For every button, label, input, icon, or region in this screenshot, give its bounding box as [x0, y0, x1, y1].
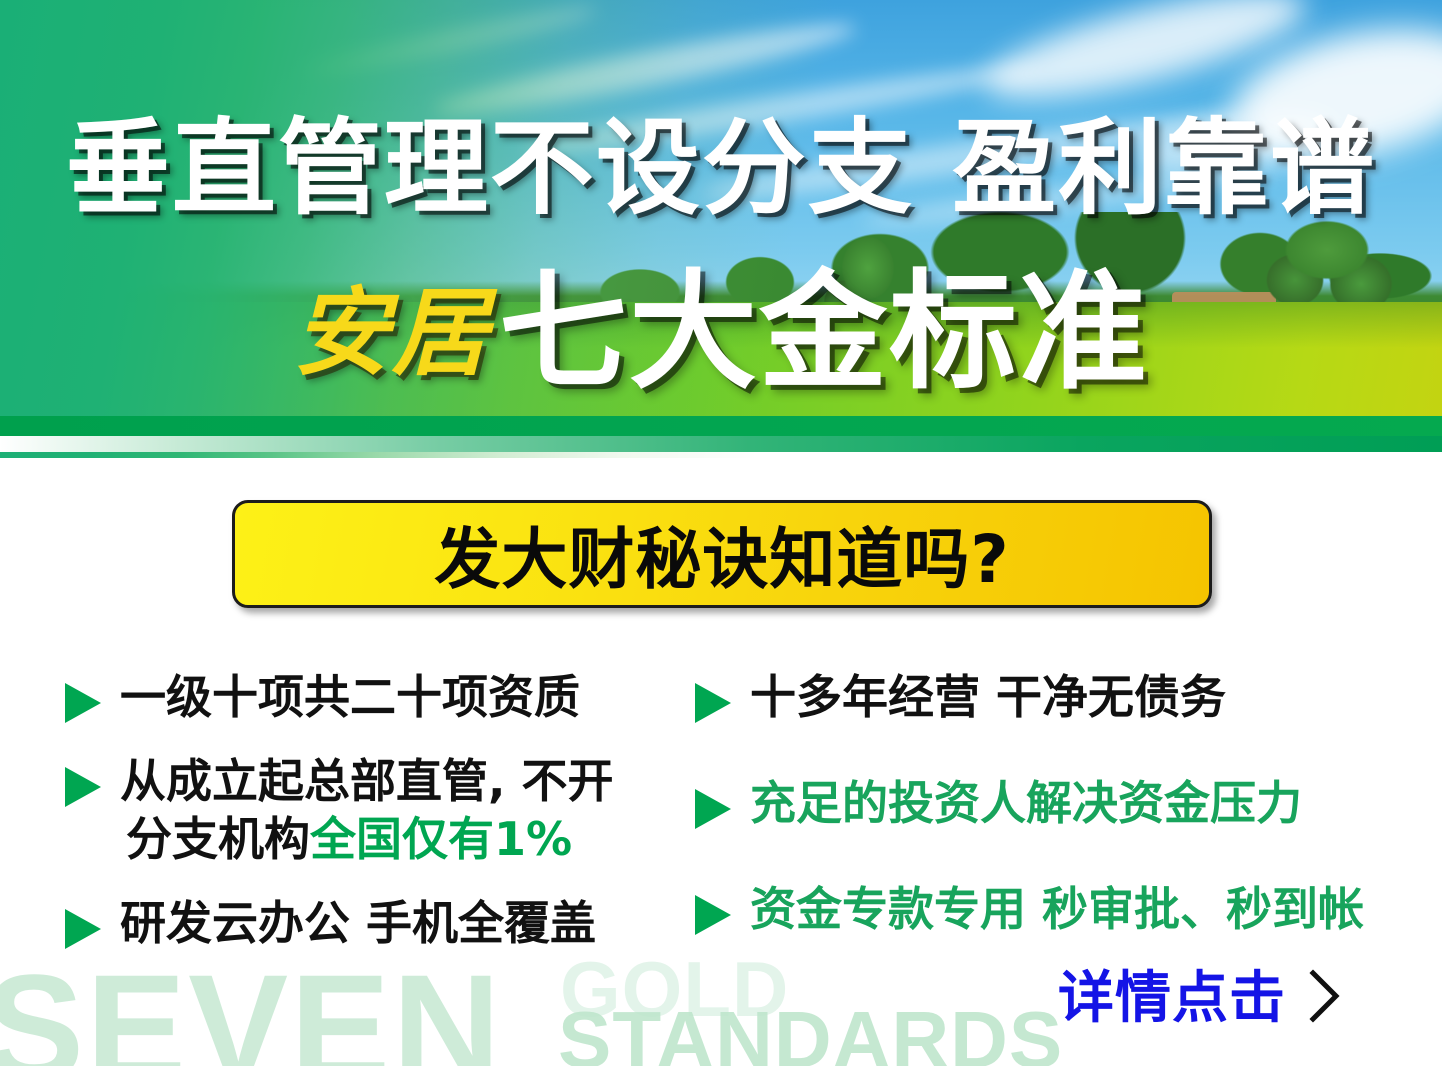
triangle-bullet-icon	[62, 680, 108, 726]
promo-banner: 垂直管理不设分支 盈利靠谱 安居七大金标准 SEVEN GOLD STANDAR…	[0, 0, 1442, 1066]
feature-text-segment: 研发云办公 手机全覆盖	[120, 896, 596, 950]
feature-text-segment: 一级十项共二十项资质	[120, 670, 580, 724]
feature-list-left: 一级十项共二十项资质从成立起总部直管, 不开分支机构全国仅有1%研发云办公 手机…	[62, 668, 702, 978]
triangle-bullet-icon	[692, 892, 738, 938]
promo-question-banner[interactable]: 发大财秘诀知道吗?	[232, 500, 1212, 608]
feature-item: 资金专款专用 秒审批、秒到帐	[692, 880, 1422, 938]
feature-item: 充足的投资人解决资金压力	[692, 774, 1422, 832]
details-link-label: 详情点击	[1058, 969, 1286, 1029]
feature-text-line: 分支机构全国仅有1%	[120, 810, 614, 868]
triangle-bullet-icon	[62, 906, 108, 952]
hero-section: 垂直管理不设分支 盈利靠谱 安居七大金标准	[0, 0, 1442, 458]
feature-list-right: 十多年经营 干净无债务充足的投资人解决资金压力资金专款专用 秒审批、秒到帐	[692, 668, 1422, 986]
feature-text-line: 从成立起总部直管, 不开	[120, 752, 614, 810]
feature-item-text: 一级十项共二十项资质	[120, 668, 580, 726]
headline-primary: 垂直管理不设分支 盈利靠谱	[0, 112, 1442, 224]
feature-item-text: 资金专款专用 秒审批、秒到帐	[750, 880, 1364, 938]
promo-question-text: 发大财秘诀知道吗?	[434, 506, 1009, 602]
triangle-bullet-icon	[692, 786, 738, 832]
triangle-bullet-icon	[62, 764, 108, 810]
feature-text-segment: 十多年经营 干净无债务	[750, 670, 1226, 724]
headline-secondary: 安居七大金标准	[0, 268, 1442, 398]
feature-text-line: 资金专款专用 秒审批、秒到帐	[750, 880, 1364, 938]
feature-item: 研发云办公 手机全覆盖	[62, 894, 702, 952]
feature-text-line: 一级十项共二十项资质	[120, 668, 580, 726]
feature-item: 十多年经营 干净无债务	[692, 668, 1422, 726]
feature-item-text: 十多年经营 干净无债务	[750, 668, 1226, 726]
feature-text-line: 研发云办公 手机全覆盖	[120, 894, 596, 952]
triangle-bullet-icon	[692, 680, 738, 726]
watermark-standards: STANDARDS	[558, 1000, 1063, 1066]
details-link[interactable]: 详情点击	[1058, 968, 1342, 1029]
feature-text-segment: 充足的投资人解决资金压力	[750, 776, 1302, 830]
feature-item-text: 充足的投资人解决资金压力	[750, 774, 1302, 832]
feature-text-line: 充足的投资人解决资金压力	[750, 774, 1302, 832]
brand-name-text: 安居	[293, 268, 491, 398]
feature-text-segment: 从成立起总部直管, 不开	[120, 754, 614, 808]
feature-item: 从成立起总部直管, 不开分支机构全国仅有1%	[62, 752, 702, 868]
chevron-right-icon	[1308, 968, 1342, 1029]
green-divider-bar	[0, 416, 1442, 436]
headline-secondary-text: 七大金标准	[499, 268, 1149, 398]
gradient-fade-strip	[0, 436, 1442, 452]
feature-text-segment: 资金专款专用 秒审批、秒到帐	[750, 882, 1364, 936]
feature-text-segment: 全国仅有1%	[310, 812, 572, 866]
feature-item-text: 从成立起总部直管, 不开分支机构全国仅有1%	[120, 752, 614, 868]
feature-text-line: 十多年经营 干净无债务	[750, 668, 1226, 726]
feature-item-text: 研发云办公 手机全覆盖	[120, 894, 596, 952]
feature-text-segment: 分支机构	[126, 812, 310, 866]
feature-item: 一级十项共二十项资质	[62, 668, 702, 726]
